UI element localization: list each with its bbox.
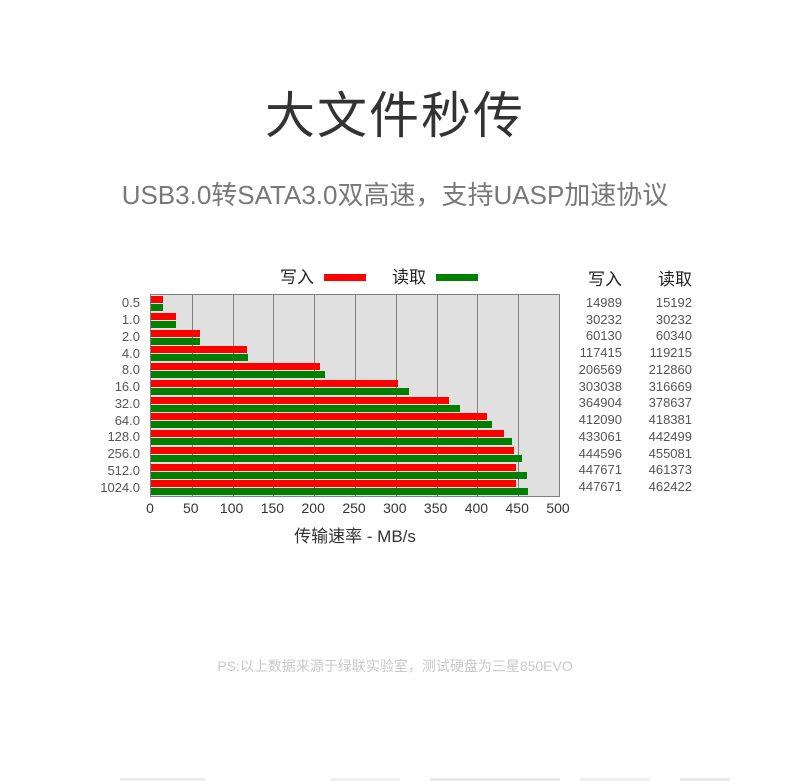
bar-group [151, 430, 559, 447]
table-cell-read: 378637 [636, 394, 692, 411]
bar-group [151, 330, 559, 347]
y-axis: 0.51.02.04.08.016.032.064.0128.0256.0512… [0, 294, 145, 497]
y-axis-tick-label: 4.0 [122, 347, 140, 360]
y-axis-tick-label: 16.0 [115, 380, 140, 393]
page-header: 大文件秒传 USB3.0转SATA3.0双高速，支持UASP加速协议 [0, 0, 790, 212]
bar-read [151, 438, 512, 445]
legend-entry-read: 读取 [392, 269, 478, 286]
page-subtitle: USB3.0转SATA3.0双高速，支持UASP加速协议 [0, 146, 790, 212]
bar-write [151, 397, 449, 404]
x-axis-tick-label: 400 [465, 500, 488, 516]
bar-group [151, 413, 559, 430]
bar-read [151, 304, 163, 311]
table-cell-read: 316669 [636, 378, 692, 395]
legend-entry-write: 写入 [280, 269, 366, 286]
table-cell-read: 442499 [636, 428, 692, 445]
table-row: 3023230232 [566, 311, 706, 328]
bar-read [151, 488, 528, 495]
bar-write [151, 313, 176, 320]
table-cell-read: 418381 [636, 411, 692, 428]
bar-group [151, 447, 559, 464]
table-cell-write: 117415 [566, 344, 622, 361]
table-row: 206569212860 [566, 361, 706, 378]
bar-read [151, 371, 325, 378]
table-cell-read: 455081 [636, 445, 692, 462]
table-cell-write: 303038 [566, 378, 622, 395]
table-cell-write: 60130 [566, 327, 622, 344]
bar-group [151, 363, 559, 380]
bar-group [151, 313, 559, 330]
table-cell-read: 461373 [636, 461, 692, 478]
y-axis-tick-label: 64.0 [115, 414, 140, 427]
y-axis-tick-label: 1.0 [122, 313, 140, 326]
data-table-header: 写入 读取 [566, 264, 706, 290]
y-axis-tick-label: 512.0 [107, 464, 140, 477]
bar-read [151, 405, 460, 412]
table-cell-read: 462422 [636, 478, 692, 495]
column-header-read: 读取 [636, 265, 692, 290]
bar-read [151, 338, 200, 345]
x-axis-tick-label: 50 [183, 500, 199, 516]
table-cell-read: 60340 [636, 327, 692, 344]
bar-read [151, 388, 409, 395]
table-row: 6013060340 [566, 328, 706, 345]
bar-group [151, 397, 559, 414]
chart-legend: 写入 读取 [280, 264, 478, 290]
table-row: 447671461373 [566, 462, 706, 479]
bar-write [151, 380, 398, 387]
bar-group [151, 464, 559, 481]
bar-write [151, 447, 514, 454]
bar-write [151, 480, 516, 487]
x-axis-tick-label: 0 [146, 500, 154, 516]
table-cell-write: 412090 [566, 411, 622, 428]
bar-write [151, 413, 487, 420]
table-cell-read: 15192 [636, 294, 692, 311]
table-row: 303038316669 [566, 378, 706, 395]
table-row: 444596455081 [566, 445, 706, 462]
bar-series-container [151, 295, 559, 496]
y-axis-tick-label: 0.5 [122, 296, 140, 309]
page-title: 大文件秒传 [0, 86, 790, 146]
bar-group [151, 346, 559, 363]
bar-group [151, 380, 559, 397]
legend-label-read: 读取 [392, 269, 426, 286]
data-table: 1498915192302323023260130603401174151192… [566, 294, 706, 495]
legend-label-write: 写入 [280, 269, 314, 286]
legend-swatch-read-icon [436, 274, 478, 281]
x-axis: 050100150200250300350400450500 [150, 500, 560, 520]
table-cell-write: 364904 [566, 394, 622, 411]
x-axis-tick-label: 100 [220, 500, 243, 516]
x-axis-label: 传输速率 - MB/s [150, 522, 560, 547]
bar-read [151, 472, 527, 479]
table-cell-write: 14989 [566, 294, 622, 311]
bar-write [151, 330, 200, 337]
footnote: PS:以上数据来源于绿联实验室，测试硬盘为三星850EVO [0, 656, 790, 676]
bar-group [151, 296, 559, 313]
bar-read [151, 421, 492, 428]
y-axis-tick-label: 256.0 [107, 447, 140, 460]
table-row: 433061442499 [566, 428, 706, 445]
table-cell-write: 447671 [566, 478, 622, 495]
x-axis-tick-label: 300 [383, 500, 406, 516]
table-cell-write: 433061 [566, 428, 622, 445]
x-axis-tick-label: 450 [506, 500, 529, 516]
table-row: 1498915192 [566, 294, 706, 311]
grid-line [559, 295, 560, 496]
column-header-write: 写入 [566, 265, 622, 290]
bar-write [151, 430, 504, 437]
bar-write [151, 464, 516, 471]
table-cell-write: 444596 [566, 445, 622, 462]
table-cell-write: 206569 [566, 361, 622, 378]
bar-read [151, 455, 522, 462]
table-row: 412090418381 [566, 411, 706, 428]
table-cell-read: 119215 [636, 344, 692, 361]
legend-swatch-write-icon [324, 274, 366, 281]
x-axis-tick-label: 250 [342, 500, 365, 516]
y-axis-tick-label: 1024.0 [100, 481, 140, 494]
table-cell-write: 30232 [566, 311, 622, 328]
bar-group [151, 480, 559, 497]
table-cell-read: 212860 [636, 361, 692, 378]
table-row: 117415119215 [566, 344, 706, 361]
x-axis-tick-label: 500 [546, 500, 569, 516]
x-axis-tick-label: 150 [261, 500, 284, 516]
y-axis-tick-label: 32.0 [115, 397, 140, 410]
x-axis-tick-label: 200 [302, 500, 325, 516]
plot-area [150, 294, 560, 497]
bar-write [151, 296, 163, 303]
y-axis-tick-label: 2.0 [122, 330, 140, 343]
bar-read [151, 354, 248, 361]
bar-write [151, 346, 247, 353]
table-row: 364904378637 [566, 395, 706, 412]
table-row: 447671462422 [566, 478, 706, 495]
x-axis-tick-label: 350 [424, 500, 447, 516]
bar-write [151, 363, 320, 370]
performance-chart: 写入 读取 写入 读取 0.51.02.04.08.016.032.064.01… [0, 264, 790, 564]
table-cell-read: 30232 [636, 311, 692, 328]
table-cell-write: 447671 [566, 461, 622, 478]
y-axis-tick-label: 8.0 [122, 363, 140, 376]
bar-read [151, 321, 176, 328]
y-axis-tick-label: 128.0 [107, 430, 140, 443]
